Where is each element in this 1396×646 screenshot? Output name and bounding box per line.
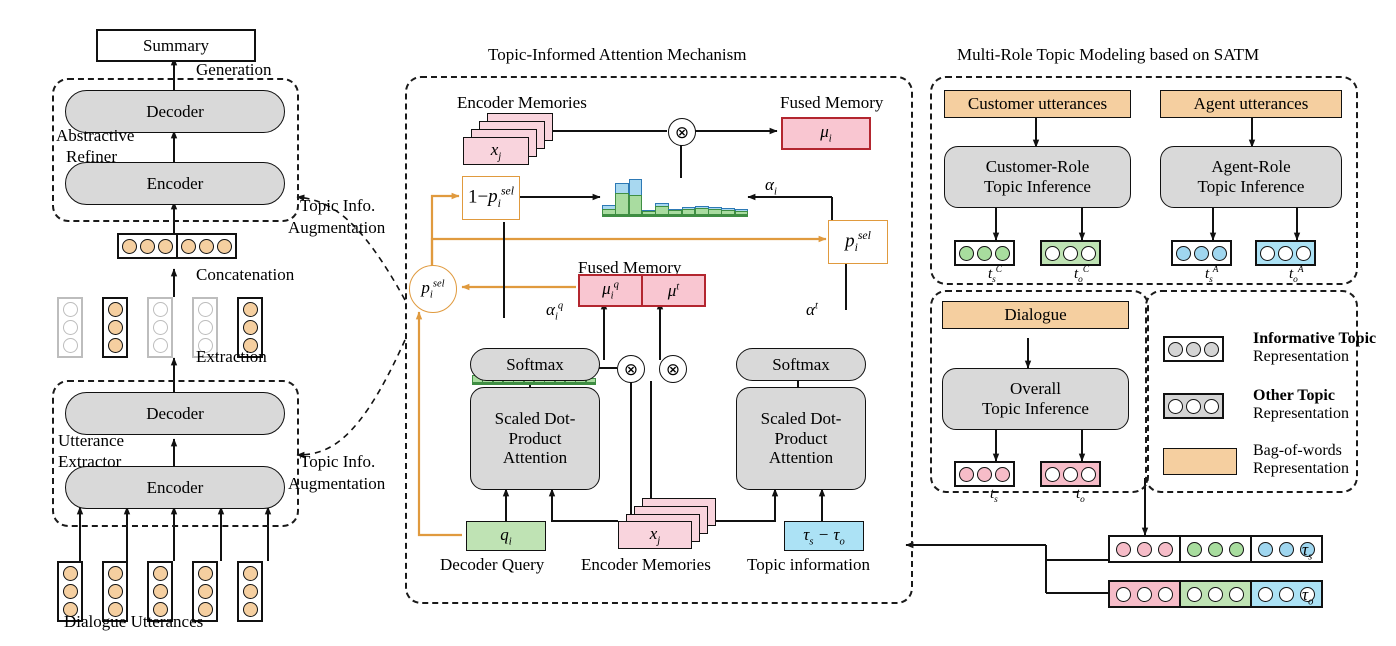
histogram-bar-green <box>602 209 616 215</box>
token-dot <box>1158 587 1173 602</box>
attn-l3: Attention <box>503 448 567 468</box>
legend-informative-bold: Informative Topic <box>1253 330 1376 348</box>
token-dot <box>1063 467 1078 482</box>
token-dot <box>1212 246 1227 261</box>
legend-informative-swatch <box>1163 336 1224 362</box>
token-dot <box>1116 587 1131 602</box>
topic-aug-label-bottom-l1: Topic Info. <box>300 452 375 472</box>
t-o-A-tokens <box>1255 240 1316 266</box>
utterance-box-selected <box>237 561 263 622</box>
topic-information-label: Topic information <box>747 555 870 575</box>
one-minus-p-sel-box: 1−pisel <box>462 176 520 220</box>
t-s-tokens <box>954 461 1015 487</box>
token-group <box>1108 535 1181 563</box>
center-panel-title: Topic-Informed Attention Mechanism <box>488 45 746 65</box>
histogram-bar-green <box>735 211 749 215</box>
attn-r1: Scaled Dot- <box>761 409 842 429</box>
overall-topic-inference[interactable]: Overall Topic Inference <box>942 368 1129 430</box>
token-dot <box>1045 246 1060 261</box>
token-dot <box>1187 542 1202 557</box>
token-dot <box>243 602 258 617</box>
token-dot <box>63 338 78 353</box>
token-dot <box>243 302 258 317</box>
token-dot <box>153 320 168 335</box>
t-o-C-label: toC <box>1074 265 1089 285</box>
utterance-box-unselected <box>147 297 173 358</box>
decoder-query-token: qi <box>466 521 546 551</box>
token-dot <box>1168 342 1183 357</box>
t-o-A-label: toA <box>1289 265 1304 285</box>
legend-other-swatch <box>1163 393 1224 419</box>
token-dot <box>1229 542 1244 557</box>
histogram-bar-green <box>642 211 656 215</box>
multiply-icon-left: ⊗ <box>617 355 645 383</box>
cri-l1: Customer-Role <box>986 157 1090 177</box>
token-group <box>1179 580 1252 608</box>
token-dot <box>1204 399 1219 414</box>
histogram-bar-green <box>708 209 722 215</box>
token-dot <box>108 584 123 599</box>
token-dot <box>1208 587 1223 602</box>
token-dot <box>959 246 974 261</box>
fused-memory-split: μiq μt <box>578 274 706 307</box>
token-dot <box>63 302 78 317</box>
memory-token-top: xj <box>463 137 529 165</box>
token-group <box>1040 461 1101 487</box>
token-dot <box>1279 542 1294 557</box>
token-group <box>1179 535 1252 563</box>
legend-other-bold: Other Topic <box>1253 387 1349 405</box>
t-s-C-label: tsC <box>988 265 1002 285</box>
token-dot <box>217 239 232 254</box>
token-dot <box>959 467 974 482</box>
t-s-C-tokens <box>954 240 1015 266</box>
token-dot <box>198 320 213 335</box>
token-group <box>1108 580 1181 608</box>
token-dot <box>108 566 123 581</box>
agent-role-inference[interactable]: Agent-Role Topic Inference <box>1160 146 1342 208</box>
legend-informative-plain: Representation <box>1253 348 1376 366</box>
alpha-t-label: αt <box>806 300 818 320</box>
token-dot <box>243 566 258 581</box>
token-dot <box>1137 587 1152 602</box>
token-dot <box>108 302 123 317</box>
token-dot <box>1168 399 1183 414</box>
token-dot <box>1186 399 1201 414</box>
token-dot <box>1278 246 1293 261</box>
attention-right[interactable]: Scaled Dot- Product Attention <box>736 387 866 490</box>
utterance-box-selected <box>102 297 128 358</box>
token-group <box>954 240 1015 266</box>
dialogue-utterances-label: Dialogue Utterances <box>64 612 203 632</box>
attn-l1: Scaled Dot- <box>495 409 576 429</box>
softmax-right[interactable]: Softmax <box>736 348 866 381</box>
token-dot <box>1258 542 1273 557</box>
alpha-i-q-label: αiq <box>546 300 563 322</box>
fused-memory-mu-i: μi <box>781 117 871 150</box>
alpha-i-histogram <box>602 177 748 217</box>
topic-aug-label-top-l2: Augmentation <box>288 218 385 238</box>
utterance-box-unselected <box>57 297 83 358</box>
alpha-i-label: αi <box>765 175 777 197</box>
token-dot <box>1186 342 1201 357</box>
abstractive-refiner-label-l2: Refiner <box>66 147 117 167</box>
token-dot <box>1137 542 1152 557</box>
token-dot <box>1081 467 1096 482</box>
t-s-A-tokens <box>1171 240 1232 266</box>
summary-box: Summary <box>96 29 256 62</box>
token-dot <box>1258 587 1273 602</box>
token-dot <box>977 246 992 261</box>
token-dot <box>243 320 258 335</box>
encoder-memories-stack-bottom: xj <box>618 498 718 550</box>
encoder-memories-label-top: Encoder Memories <box>457 93 587 113</box>
right-panel-title: Multi-Role Topic Modeling based on SATM <box>957 45 1259 65</box>
token-dot <box>198 302 213 317</box>
legend-bow-l1: Bag-of-words <box>1253 442 1349 460</box>
token-dot <box>158 239 173 254</box>
token-group <box>176 233 237 259</box>
oti-l1: Overall <box>1010 379 1061 399</box>
tau-s-row <box>1108 535 1323 563</box>
token-dot <box>1208 542 1223 557</box>
histogram-bar-green <box>721 210 735 215</box>
token-dot <box>1176 246 1191 261</box>
fused-memory-mu-i-q: μiq <box>578 274 643 307</box>
attn-r2: Product <box>775 429 828 449</box>
fused-memory-mu-t: μt <box>641 274 706 307</box>
concatenation-row <box>117 233 237 259</box>
tau-s-label: τs <box>1302 540 1312 562</box>
ari-l1: Agent-Role <box>1211 157 1290 177</box>
t-o-tokens <box>1040 461 1101 487</box>
token-group <box>1163 336 1224 362</box>
token-dot <box>108 338 123 353</box>
customer-role-inference[interactable]: Customer-Role Topic Inference <box>944 146 1131 208</box>
token-dot <box>122 239 137 254</box>
oti-l2: Topic Inference <box>982 399 1089 419</box>
figure-canvas: Summary Generation Decoder Encoder Abstr… <box>0 0 1396 646</box>
token-dot <box>1229 587 1244 602</box>
encoder-memories-label-bottom: Encoder Memories <box>581 555 711 575</box>
extraction-label: Extraction <box>196 347 267 367</box>
token-group <box>1171 240 1232 266</box>
agent-utterances-box: Agent utterances <box>1160 90 1342 118</box>
token-dot <box>1063 246 1078 261</box>
histogram-bar-green <box>629 195 643 215</box>
token-dot <box>198 584 213 599</box>
token-dot <box>1194 246 1209 261</box>
tau-o-label: τo <box>1302 585 1313 607</box>
token-group <box>1255 240 1316 266</box>
t-o-label: to <box>1076 486 1085 505</box>
concatenation-label: Concatenation <box>196 265 294 285</box>
token-dot <box>199 239 214 254</box>
legend-bow-swatch <box>1163 448 1237 475</box>
encoder-memories-stack-top: xj <box>463 113 553 165</box>
attn-l2: Product <box>509 429 562 449</box>
token-dot <box>153 566 168 581</box>
histogram-bar-green <box>655 206 669 215</box>
extractor-decoder-module[interactable]: Decoder <box>65 392 285 435</box>
token-dot <box>63 320 78 335</box>
histogram-bar-green <box>615 193 629 215</box>
tau-o-row <box>1108 580 1323 608</box>
dialogue-box: Dialogue <box>942 301 1129 329</box>
customer-utterances-box: Customer utterances <box>944 90 1131 118</box>
histogram-bar-green <box>695 208 709 215</box>
abstractive-refiner-label-l1: Abstractive <box>56 126 134 146</box>
attn-r3: Attention <box>769 448 833 468</box>
topic-aug-label-bottom-l2: Augmentation <box>288 474 385 494</box>
token-dot <box>995 246 1010 261</box>
token-dot <box>181 239 196 254</box>
legend-other-plain: Representation <box>1253 405 1349 423</box>
legend-bow-text: Bag-of-words Representation <box>1253 442 1349 478</box>
token-dot <box>977 467 992 482</box>
token-dot <box>1116 542 1131 557</box>
attention-left[interactable]: Scaled Dot- Product Attention <box>470 387 600 490</box>
multiply-icon-top: ⊗ <box>668 118 696 146</box>
token-group <box>1163 393 1224 419</box>
token-dot <box>108 320 123 335</box>
token-dot <box>153 584 168 599</box>
token-dot <box>1187 587 1202 602</box>
softmax-left[interactable]: Softmax <box>470 348 600 381</box>
token-dot <box>243 584 258 599</box>
token-dot <box>153 302 168 317</box>
ari-l2: Topic Inference <box>1198 177 1305 197</box>
histogram-baseline <box>472 383 596 385</box>
multiply-icon-right: ⊗ <box>659 355 687 383</box>
extractor-encoder-module[interactable]: Encoder <box>65 466 285 509</box>
memory-token-bottom: xj <box>618 521 692 549</box>
token-dot <box>1158 542 1173 557</box>
legend-other-text: Other Topic Representation <box>1253 387 1349 423</box>
token-dot <box>63 566 78 581</box>
legend-bow-l2: Representation <box>1253 460 1349 478</box>
token-group <box>1040 240 1101 266</box>
t-o-C-tokens <box>1040 240 1101 266</box>
token-dot <box>1279 587 1294 602</box>
t-s-A-label: tsA <box>1205 265 1218 285</box>
token-dot <box>198 566 213 581</box>
refiner-encoder-module[interactable]: Encoder <box>65 162 285 205</box>
token-dot <box>1081 246 1096 261</box>
token-dot <box>995 467 1010 482</box>
token-dot <box>1204 342 1219 357</box>
decoder-query-label: Decoder Query <box>440 555 544 575</box>
topic-aug-label-top-l1: Topic Info. <box>300 196 375 216</box>
token-dot <box>63 584 78 599</box>
legend-informative-text: Informative Topic Representation <box>1253 330 1376 366</box>
histogram-bar-green <box>668 210 682 215</box>
p-sel-box: pisel <box>828 220 888 264</box>
cri-l2: Topic Inference <box>984 177 1091 197</box>
token-group <box>117 233 178 259</box>
utterance-extractor-label-l2: Extractor <box>58 452 121 472</box>
generation-label: Generation <box>196 60 272 80</box>
token-dot <box>1260 246 1275 261</box>
topic-information-token: τs − τo <box>784 521 864 551</box>
fused-memory-label-top: Fused Memory <box>780 93 883 113</box>
histogram-baseline <box>602 215 748 217</box>
token-group <box>954 461 1015 487</box>
token-dot <box>1296 246 1311 261</box>
token-dot <box>1045 467 1060 482</box>
p-sel-circle: pisel <box>409 265 457 313</box>
token-dot <box>140 239 155 254</box>
histogram-bar-green <box>682 209 696 215</box>
utterance-extractor-label-l1: Utterance <box>58 431 124 451</box>
t-s-label: ts <box>990 486 998 505</box>
token-dot <box>153 338 168 353</box>
